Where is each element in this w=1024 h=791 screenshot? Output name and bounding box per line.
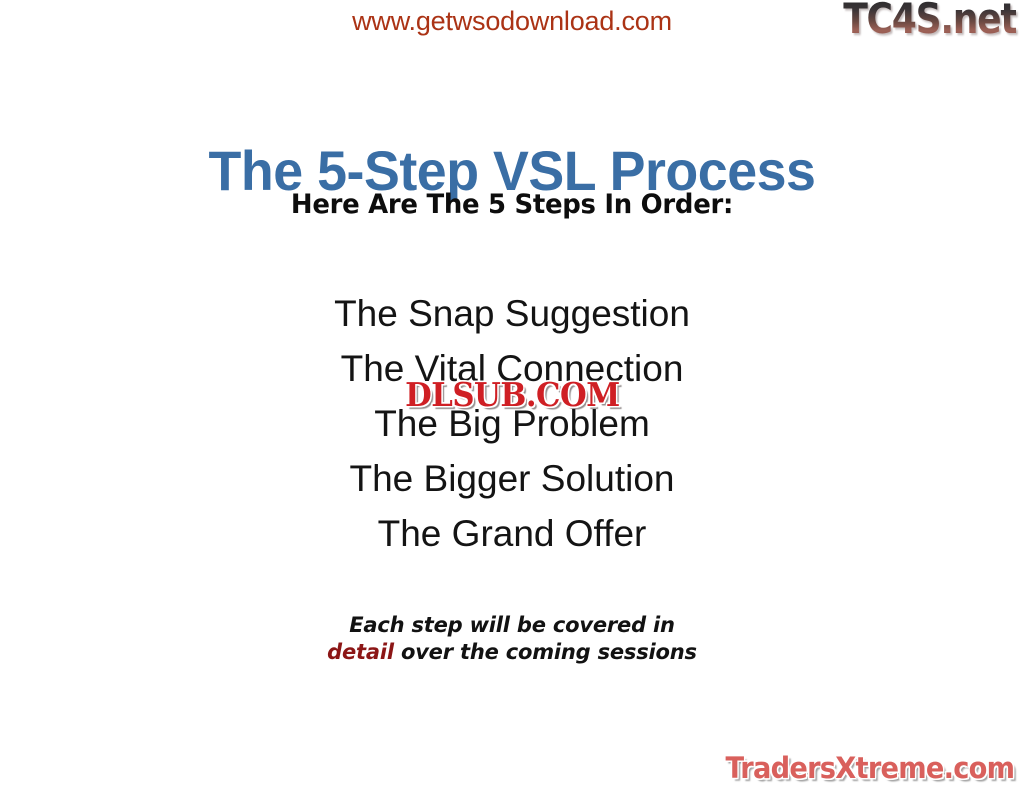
tc4s-brand-logo: TC4S.net (843, 0, 1016, 40)
footer-note: Each step will be covered in detail over… (0, 612, 1024, 666)
subtitle-text: Here Are The 5 Steps In Order: (20, 189, 1003, 220)
list-item: The Grand Offer (0, 506, 1024, 561)
list-item: The Snap Suggestion (0, 286, 1024, 341)
footer-note-highlight: detail (327, 640, 394, 664)
footer-note-line-2: detail over the coming sessions (0, 639, 1024, 666)
list-item: The Vital Connection (0, 341, 1024, 396)
footer-note-line-2-rest: over the coming sessions (394, 640, 697, 664)
slide-canvas: www.getwsodownload.com TC4S.net The 5-St… (0, 0, 1024, 791)
list-item: The Big Problem (0, 396, 1024, 451)
list-item: The Bigger Solution (0, 451, 1024, 506)
steps-list: The Snap Suggestion The Vital Connection… (0, 286, 1024, 561)
footer-note-line-1: Each step will be covered in (0, 612, 1024, 639)
tradersxtreme-footer-logo: TradersXtreme.com (725, 751, 1014, 785)
